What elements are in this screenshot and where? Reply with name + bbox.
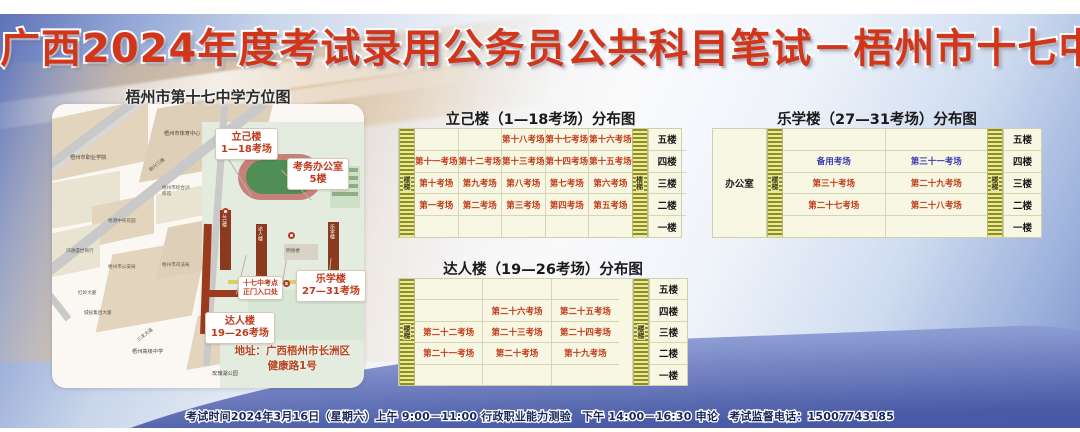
empty-cell: [415, 279, 483, 299]
exam-room-cell: 第五考场: [589, 194, 632, 215]
callout-lexue-building[interactable]: 乐学楼 27—31考场: [296, 270, 366, 302]
exam-room-cell: 第一考场: [415, 194, 459, 215]
map-place-label: 梧港中央花园: [108, 218, 136, 224]
empty-cell: [483, 279, 551, 299]
map-place-label: 梧州市职业学院: [70, 154, 106, 161]
campus-location-map: 立己楼 达人楼 乐学楼 明德楼 梧州市职业学院 梧州市体育中心 梧州市综合训练馆…: [52, 104, 364, 388]
exam-room-cell: 第二十七考场: [783, 194, 886, 215]
map-pin-liji[interactable]: [222, 208, 229, 215]
map-place-label: 梧州市综合训练馆: [162, 186, 192, 198]
distribution-table-lexue: 办公室楼梯备用考场第三十一考场第三十考场第二十九考场第二十七考场第二十八考场楼梯…: [712, 128, 1042, 238]
empty-cell: [783, 129, 886, 150]
stairwell-column: 楼梯: [399, 279, 415, 385]
floor-label: 一楼: [1004, 216, 1041, 237]
floor-label: 一楼: [650, 365, 687, 385]
stairwell-column: 楼梯: [987, 129, 1003, 237]
stairwell-column: 楼梯: [633, 279, 649, 385]
footer-hotline: 考试监督电话：15007743185: [729, 408, 894, 424]
table-row: [415, 365, 619, 385]
floor-label: 三楼: [649, 173, 686, 195]
empty-cell: [415, 216, 459, 237]
callout-rooms: 27—31考场: [302, 286, 360, 298]
exam-room-cell: 第七考场: [546, 173, 590, 194]
map-building-label: 乐学楼: [328, 222, 336, 239]
floor-label: 五楼: [649, 129, 686, 151]
map-building-label: 明德楼: [286, 248, 300, 254]
table-row: [415, 279, 619, 300]
table-row: 备用考场第三十一考场: [783, 151, 987, 173]
floor-label-column: 五楼四楼三楼二楼一楼: [649, 279, 687, 385]
floor-label: 三楼: [1004, 173, 1041, 195]
exam-room-cell: 第四考场: [546, 194, 590, 215]
exam-room-cell: 第九考场: [459, 173, 503, 194]
exam-room-cell: 第二十四考场: [552, 322, 619, 342]
callout-name: 达人楼: [211, 316, 269, 328]
stairwell-label: 楼梯: [991, 175, 999, 191]
footer-bar: 考试时间2024年3月16日（星期六）上午 9:00－11:00 行政职业能力测…: [0, 405, 1080, 424]
stairwell-column: 楼梯: [632, 129, 648, 237]
exam-room-cell: 第二十三考场: [483, 322, 551, 342]
map-place-label: 鸿通盛世商行: [66, 248, 94, 254]
table-row: 第十八考场第十七考场第十六考场: [415, 129, 632, 151]
floor-label-column: 五楼四楼三楼二楼一楼: [1003, 129, 1041, 237]
exam-room-cell: 第十九考场: [552, 343, 619, 363]
empty-cell: [502, 216, 546, 237]
table-row: 第二十一考场第二十考场第十九考场: [415, 343, 619, 364]
corridor-spacer: [619, 279, 633, 385]
callout-rooms: 19—26考场: [211, 328, 269, 340]
floor-label: 五楼: [1004, 129, 1041, 151]
exam-room-cell: 第二十一考场: [415, 343, 483, 363]
exam-room-cell: 第十六考场: [589, 129, 632, 150]
stairwell-label: 楼梯: [636, 175, 644, 191]
table-row: 第十考场第九考场第八考场第七考场第六考场: [415, 173, 632, 195]
callout-name: 十七中考点: [243, 279, 278, 288]
exam-room-cell: 第三十考场: [783, 173, 886, 194]
map-canvas: 立己楼 达人楼 乐学楼 明德楼 梧州市职业学院 梧州市体育中心 梧州市综合训练馆…: [52, 104, 364, 388]
exam-room-cell: 第二十六考场: [483, 300, 551, 320]
empty-cell: [552, 365, 619, 385]
exam-room-cell: 第二十考场: [483, 343, 551, 363]
table-row: [783, 216, 987, 237]
poster-title-container: 广西2024年度考试录用公务员公共科目笔试－梧州市十七中考点: [0, 22, 1080, 76]
callout-name: 考务办公室: [293, 162, 343, 174]
floor-label: 二楼: [1004, 194, 1041, 216]
map-place-label: 红岭大厦: [78, 290, 96, 296]
callout-rooms: 正门入口处: [243, 288, 278, 297]
distribution-table-daren: 楼梯第二十六考场第二十五考场第二十二考场第二十三考场第二十四考场第二十一考场第二…: [398, 278, 688, 386]
empty-cell: [546, 216, 590, 237]
background-bottom-border: [0, 428, 1080, 432]
exam-room-cell: 第十一考场: [415, 151, 459, 172]
exam-room-cell: 第八考场: [502, 173, 546, 194]
exam-room-cell: 第二十二考场: [415, 322, 483, 342]
empty-cell: [552, 279, 619, 299]
floor-label-column: 五楼四楼三楼二楼一楼: [648, 129, 686, 237]
table-row: 第二十六考场第二十五考场: [415, 300, 619, 321]
exam-room-cell: 第二考场: [459, 194, 503, 215]
map-block: [52, 104, 148, 183]
floor-label: 二楼: [649, 194, 686, 216]
poster-root: 广西2024年度考试录用公务员公共科目笔试－梧州市十七中考点 梧州市第十七中学方…: [0, 0, 1080, 432]
map-place-label: 梧州市公安局: [108, 264, 136, 270]
stairwell-label: 楼梯: [403, 324, 411, 340]
exam-room-cell: 第三十一考场: [886, 151, 988, 172]
callout-rooms: 1—18考场: [221, 144, 272, 156]
map-address-line1: 地址：广西梧州市长洲区: [235, 344, 351, 359]
exam-room-cell: 第十五考场: [589, 151, 632, 172]
map-court-line: [332, 192, 358, 196]
table-row: [783, 129, 987, 151]
table-row: 第二十七考场第二十八考场: [783, 194, 987, 216]
exam-room-cell: 第十三考场: [502, 151, 546, 172]
empty-cell: [415, 365, 483, 385]
callout-rooms: 5楼: [293, 174, 343, 186]
stairwell-label: 楼梯: [403, 175, 411, 191]
floor-label: 四楼: [649, 151, 686, 173]
table-row: 第三十考场第二十九考场: [783, 173, 987, 195]
map-address-line2: 健康路1号: [235, 359, 351, 374]
exam-room-cell: 第二十八考场: [886, 194, 988, 215]
empty-cell: [589, 216, 632, 237]
floor-label: 四楼: [650, 300, 687, 321]
map-place-label: 城投集团大厦: [84, 310, 112, 316]
empty-cell: [886, 216, 988, 237]
empty-cell: [415, 129, 459, 150]
callout-name: 乐学楼: [302, 274, 360, 286]
office-cell: 办公室: [713, 129, 767, 237]
empty-cell: [415, 300, 483, 320]
map-building-liji: 立己楼: [220, 210, 231, 270]
map-building-daren: 达人楼: [256, 224, 267, 276]
callout-daren-building[interactable]: 达人楼 19—26考场: [205, 312, 275, 344]
callout-exam-office[interactable]: 考务办公室 5楼: [287, 158, 349, 190]
exam-room-cell: 第二十九考场: [886, 173, 988, 194]
map-place-label: 梧州市司法局: [162, 262, 190, 268]
empty-cell: [886, 129, 988, 150]
table-title-lexue: 乐学楼（27—31考场）分布图: [712, 108, 1042, 129]
exam-room-cell: 备用考场: [783, 151, 886, 172]
exam-room-grid: 第十八考场第十七考场第十六考场第十一考场第十二考场第十三考场第十四考场第十五考场…: [415, 129, 632, 237]
footer-afternoon: 下午 14:00－16:30 申论: [582, 408, 718, 424]
exam-room-cell: 第十八考场: [502, 129, 546, 150]
background-top-border: [0, 0, 1080, 14]
exam-room-cell: 第十七考场: [546, 129, 590, 150]
floor-label: 三楼: [650, 322, 687, 343]
floor-label: 一楼: [649, 216, 686, 237]
exam-room-grid: 第二十六考场第二十五考场第二十二考场第二十三考场第二十四考场第二十一考场第二十考…: [415, 279, 619, 385]
callout-liji-building[interactable]: 立己楼 1—18考场: [215, 128, 278, 160]
map-address: 地址：广西梧州市长洲区 健康路1号: [235, 344, 351, 374]
table-title-daren: 达人楼（19—26考场）分布图: [398, 258, 688, 279]
map-title: 梧州市第十七中学方位图: [58, 86, 358, 107]
exam-room-cell: 第十考场: [415, 173, 459, 194]
floor-label: 四楼: [1004, 151, 1041, 173]
stairwell-column: 楼梯: [399, 129, 415, 237]
map-pin-office[interactable]: [288, 232, 295, 239]
exam-room-cell: 第六考场: [589, 173, 632, 194]
stairwell-column: 楼梯: [767, 129, 783, 237]
map-place-label: 梧州市体育中心: [164, 130, 200, 137]
stairwell-label: 楼梯: [637, 324, 645, 340]
empty-cell: [483, 365, 551, 385]
exam-room-cell: 第十二考场: [459, 151, 503, 172]
stairwell-label: 楼梯: [771, 175, 779, 191]
empty-cell: [459, 216, 503, 237]
map-road-label: 三龙大道: [136, 327, 154, 343]
table-row: 第一考场第二考场第三考场第四考场第五考场: [415, 194, 632, 216]
callout-name: 立己楼: [221, 132, 272, 144]
distribution-table-liji: 楼梯第十八考场第十七考场第十六考场第十一考场第十二考场第十三考场第十四考场第十五…: [398, 128, 682, 238]
map-place-label: 梧州高级中学: [132, 348, 163, 355]
floor-label: 五楼: [650, 279, 687, 300]
exam-room-cell: 第十四考场: [546, 151, 590, 172]
exam-room-cell: 第三考场: [502, 194, 546, 215]
empty-cell: [783, 216, 886, 237]
empty-cell: [459, 129, 503, 150]
table-row: 第二十二考场第二十三考场第二十四考场: [415, 322, 619, 343]
table-row: [415, 216, 632, 237]
exam-room-cell: 第二十五考场: [552, 300, 619, 320]
exam-room-grid: 备用考场第三十一考场第三十考场第二十九考场第二十七考场第二十八考场: [783, 129, 987, 237]
table-row: 第十一考场第十二考场第十三考场第十四考场第十五考场: [415, 151, 632, 173]
callout-main-gate[interactable]: 十七中考点 正门入口处: [238, 276, 283, 300]
page-title: 广西2024年度考试录用公务员公共科目笔试－梧州市十七中考点: [0, 22, 1080, 76]
map-building-label: 达人楼: [256, 224, 264, 241]
footer-exam-time: 考试时间2024年3月16日（星期六）上午 9:00－11:00 行政职业能力测…: [186, 408, 571, 424]
floor-label: 二楼: [650, 343, 687, 364]
table-title-liji: 立己楼（1—18考场）分布图: [398, 108, 683, 129]
